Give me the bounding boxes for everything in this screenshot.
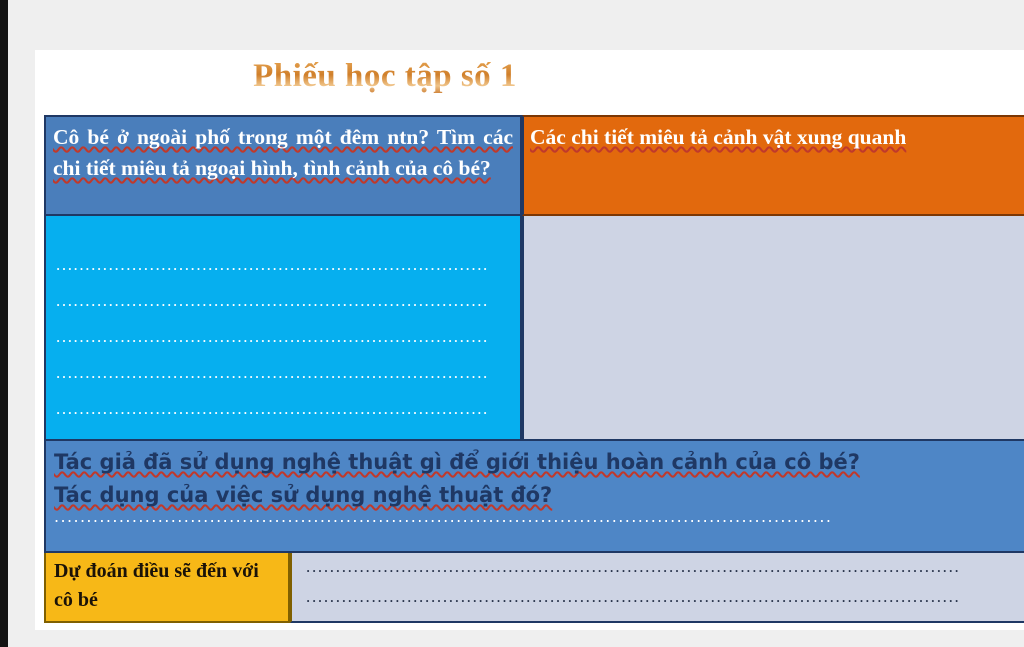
art-question-line-1: Tác giả đã sử dụng nghệ thuật gì để giới… xyxy=(54,446,1024,479)
prediction-dotted-line: ........................................… xyxy=(306,592,1024,622)
question-2-answer-cell[interactable] xyxy=(522,216,1024,441)
prediction-label-text: Dự đoán điều sẽ đến với cô bé xyxy=(54,557,280,615)
question-1-answer-cell[interactable]: ........................................… xyxy=(44,216,522,441)
document-page: Phiếu học tập số 1 Cô bé ở ngoài phố tro… xyxy=(35,50,1024,630)
art-technique-question-cell: Tác giả đã sử dụng nghệ thuật gì để giới… xyxy=(44,441,1024,553)
question-1-header-cell: Cô bé ở ngoài phố trong một đêm ntn? Tìm… xyxy=(44,115,522,216)
answer-dotted-line: ........................................… xyxy=(56,296,510,332)
page-title: Phiếu học tập số 1 xyxy=(35,58,735,95)
screenshot-viewport: Phiếu học tập số 1 Cô bé ở ngoài phố tro… xyxy=(0,0,1024,647)
prediction-dotted-line: ........................................… xyxy=(306,562,1024,592)
art-question-line-2: Tác dụng của việc sử dụng nghệ thuật đó? xyxy=(54,479,1024,512)
question-2-header-text: Các chi tiết miêu tả cảnh vật xung quanh xyxy=(530,122,1024,153)
answer-dotted-line: ........................................… xyxy=(56,260,510,296)
question-2-header-cell: Các chi tiết miêu tả cảnh vật xung quanh xyxy=(522,115,1024,216)
prediction-answer-cell[interactable]: ........................................… xyxy=(290,553,1024,623)
question-1-header-text: Cô bé ở ngoài phố trong một đêm ntn? Tìm… xyxy=(53,122,513,184)
left-black-border xyxy=(0,0,8,647)
prediction-label-cell: Dự đoán điều sẽ đến với cô bé xyxy=(44,553,290,623)
art-answer-dotted-line: ........................................… xyxy=(54,512,1024,530)
worksheet-table: Cô bé ở ngoài phố trong một đêm ntn? Tìm… xyxy=(44,115,1024,627)
answer-dotted-line: ........................................… xyxy=(56,404,510,440)
answer-dotted-line: ........................................… xyxy=(56,332,510,368)
answer-dotted-line: ........................................… xyxy=(56,368,510,404)
